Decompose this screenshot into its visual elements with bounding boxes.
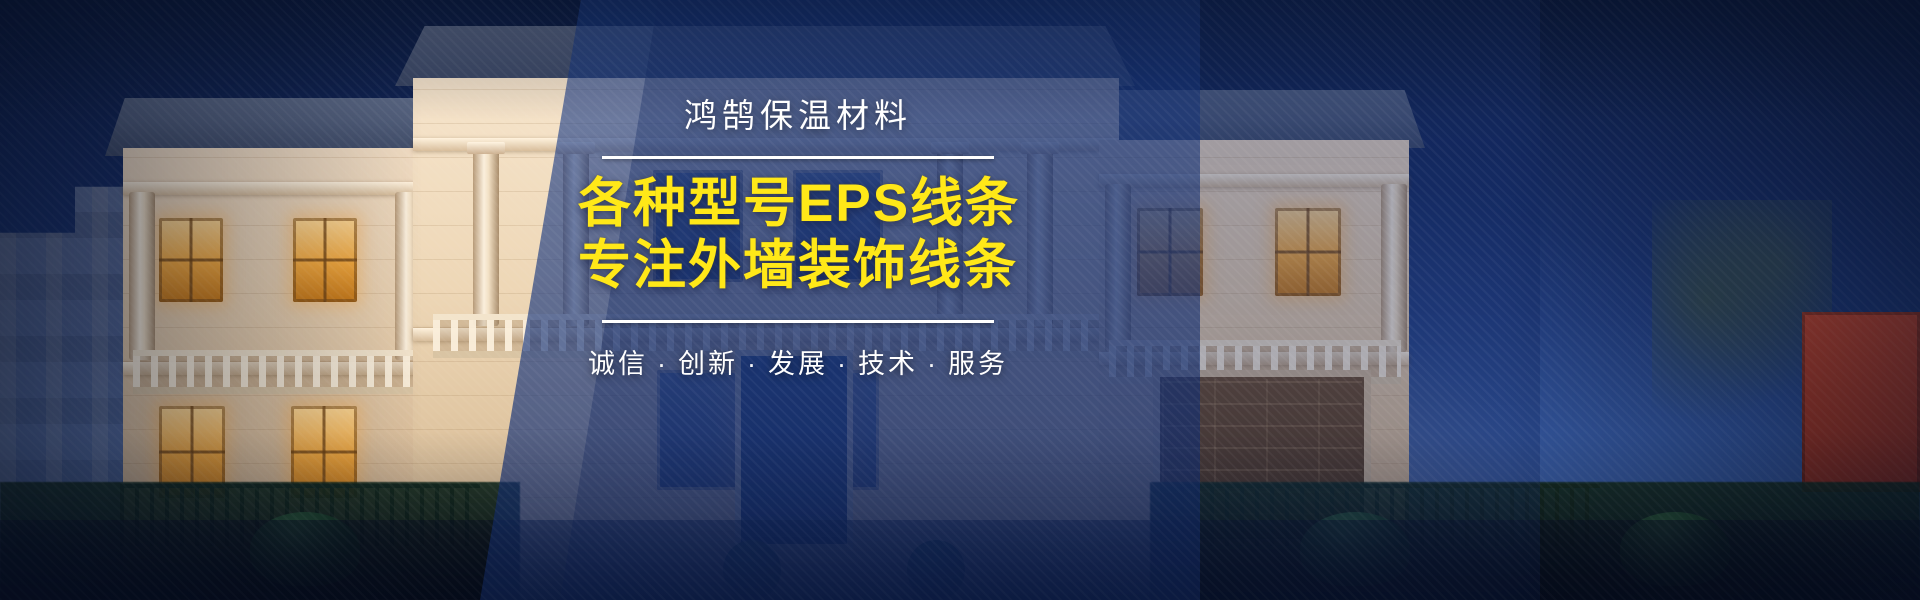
tagline-item: 诚信: [588, 349, 648, 379]
balcony-railing: [133, 350, 417, 394]
tagline-separator: ·: [927, 349, 939, 379]
divider-top: [602, 156, 994, 159]
tagline-separator: ·: [747, 349, 759, 379]
column: [129, 192, 155, 360]
brand-name: 鸿鹄保温材料: [578, 95, 1018, 136]
headline-line-2: 专注外墙装饰线条: [578, 235, 1018, 296]
tagline-item: 创新: [678, 349, 738, 379]
tagline-item: 服务: [948, 349, 1008, 379]
tagline-separator: ·: [837, 349, 849, 379]
headline-group: 各种型号EPS线条 专注外墙装饰线条: [578, 173, 1018, 296]
column: [473, 150, 499, 326]
window-lit: [293, 218, 357, 302]
cornice-left-upper: [123, 182, 423, 195]
headline-line-1: 各种型号EPS线条: [578, 173, 1018, 234]
tagline-item: 技术: [858, 349, 918, 379]
tagline: 诚信·创新·发展·技术·服务: [578, 342, 1018, 381]
tagline-separator: ·: [657, 349, 669, 379]
promo-banner: 鸿鹄保温材料 各种型号EPS线条 专注外墙装饰线条 诚信·创新·发展·技术·服务: [0, 0, 1920, 600]
column-capital: [467, 142, 505, 154]
tagline-item: 发展: [768, 349, 828, 379]
divider-bottom: [602, 320, 994, 323]
banner-copy: 鸿鹄保温材料 各种型号EPS线条 专注外墙装饰线条 诚信·创新·发展·技术·服务: [578, 95, 1018, 381]
window-lit: [159, 218, 223, 302]
red-container: [1802, 312, 1920, 492]
